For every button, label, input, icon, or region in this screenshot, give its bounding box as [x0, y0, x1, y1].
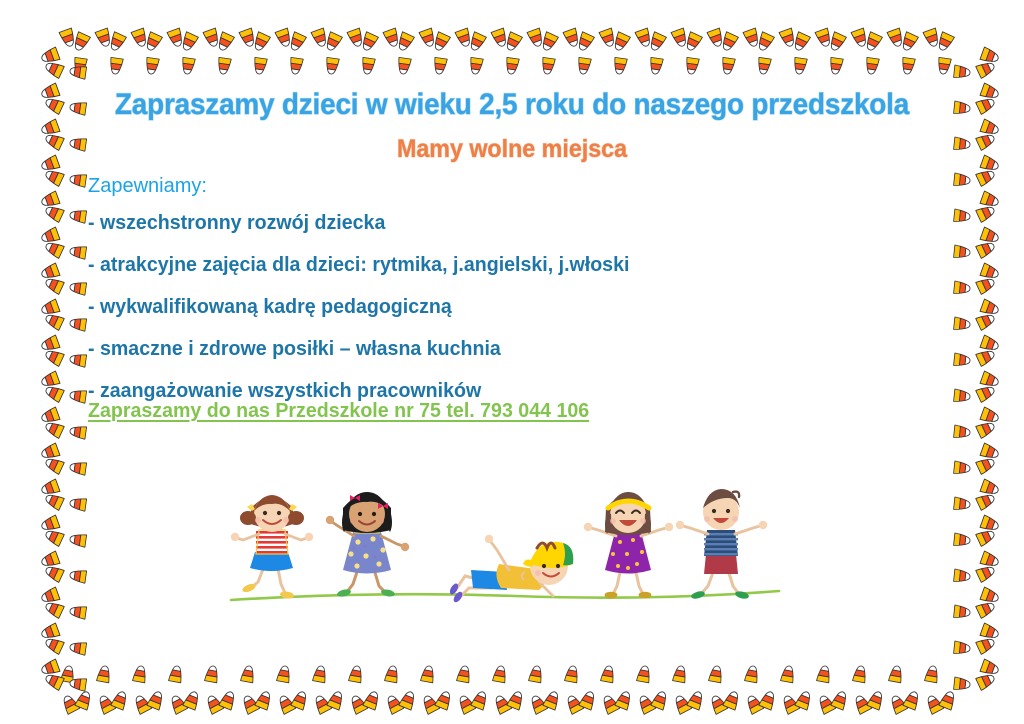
five-children-illustration [225, 478, 785, 613]
child-boy-navy-stripes [676, 489, 767, 600]
list-item: - smaczne i zdrowe posiłki – własna kuch… [88, 339, 931, 359]
offer-list: - wszechstronny rozwój dziecka - atrakcy… [88, 213, 948, 423]
page-title: Zapraszamy dzieci w wieku 2,5 roku do na… [36, 88, 988, 122]
intro-label: Zapewniamy: [88, 175, 207, 198]
child-girl-pigtails [231, 495, 313, 599]
contact-line: Zapraszamy do nas Przedszkole nr 75 tel.… [88, 400, 589, 423]
child-girl-black-bob [326, 492, 409, 598]
list-item: - wykwalifikowaną kadrę pedagogiczną [88, 297, 931, 317]
list-item: - wszechstronny rozwój dziecka [88, 213, 931, 233]
poster-content: Zapraszamy dzieci w wieku 2,5 roku do na… [0, 0, 1024, 724]
list-item: - zaangażowanie wszystkich pracowników [88, 381, 931, 401]
child-girl-headband-purple [584, 492, 673, 598]
poster-canvas: Zapraszamy dzieci w wieku 2,5 roku do na… [0, 0, 1024, 724]
page-subtitle: Mamy wolne miejsca [36, 135, 988, 164]
list-item: - atrakcyjne zajęcia dla dzieci: rytmika… [88, 255, 931, 275]
